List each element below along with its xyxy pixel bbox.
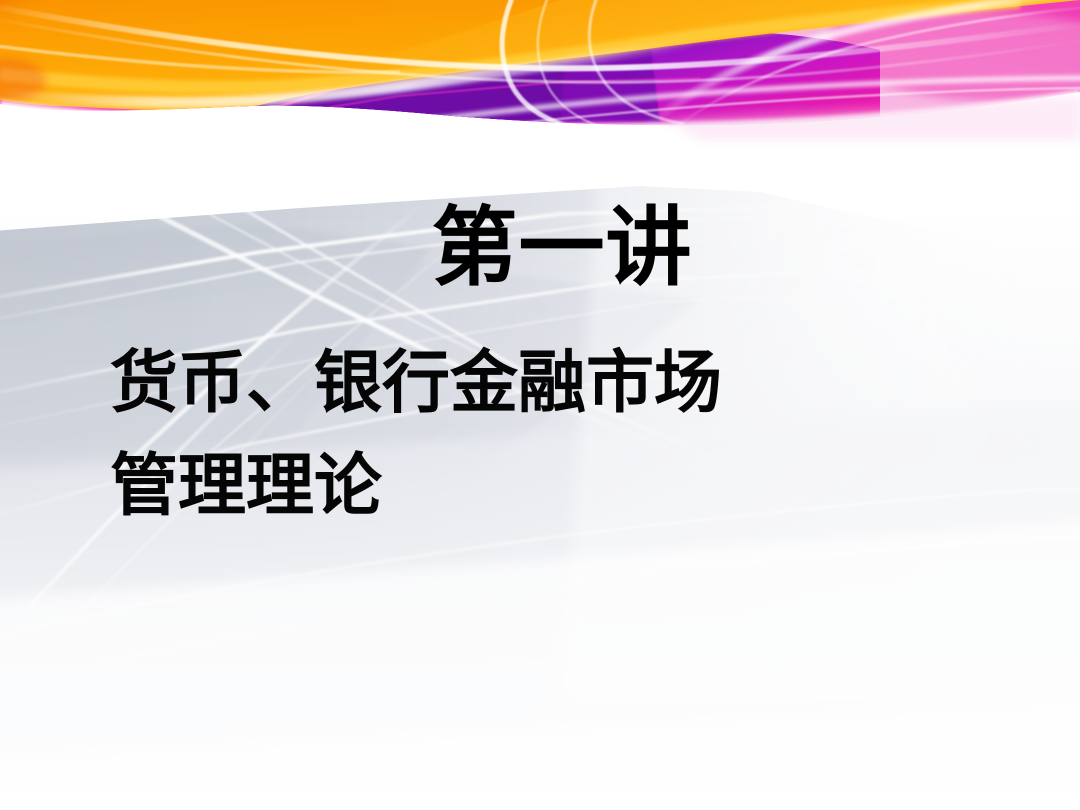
title-block: 第一讲	[0, 205, 1080, 291]
slide-content: 第一讲 货币、银行金融市场 管理理论	[0, 0, 1080, 810]
slide-title: 第一讲	[432, 205, 693, 291]
presentation-slide: 第一讲 货币、银行金融市场 管理理论	[0, 0, 1080, 810]
subtitle-line-2: 管理理论	[110, 435, 1010, 538]
subtitle-block: 货币、银行金融市场 管理理论	[110, 332, 1010, 539]
subtitle-line-1: 货币、银行金融市场	[110, 332, 1010, 435]
